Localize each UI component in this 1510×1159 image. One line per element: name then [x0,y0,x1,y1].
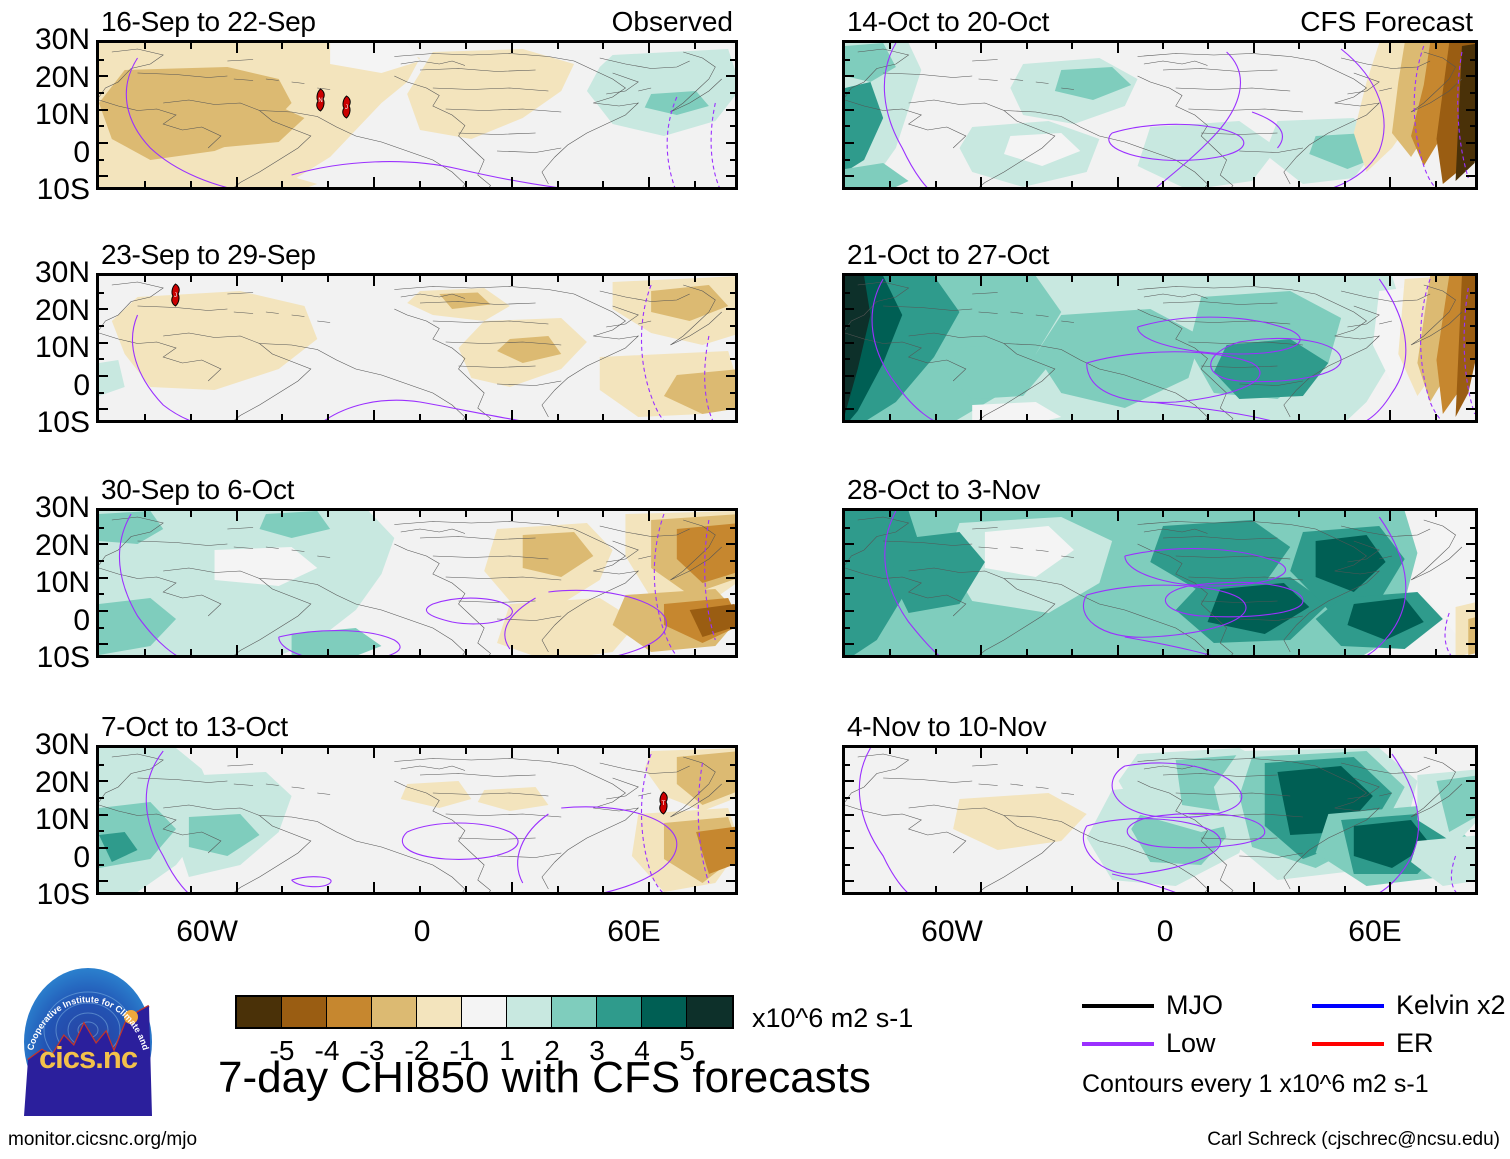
x-tick [1071,511,1073,517]
y-tick [845,627,850,629]
y-tick [845,308,854,310]
column-header-1: Observed [612,8,733,36]
y-tick [845,560,850,562]
x-tick [648,882,650,892]
x-tick [327,276,329,282]
x-tick [1207,181,1209,187]
y-tick [99,342,108,344]
x-tick [190,748,192,754]
y-tick [1470,159,1475,161]
y-tick [99,577,108,579]
x-tick [511,748,513,758]
x-tick [144,886,146,892]
x-tick [190,43,192,49]
y-tick [1470,864,1475,866]
x-tick [1026,414,1028,420]
y-tick [1470,59,1475,61]
y-tick-label: 10N [35,568,90,598]
y-tick [99,175,108,177]
x-tick-label: 60E [1348,917,1401,947]
y-tick [845,142,854,144]
y-tick [845,125,850,127]
colorbar-swatch [282,997,327,1027]
map-panel: J [96,273,738,423]
x-tick [694,511,696,517]
y-tick [845,92,850,94]
y-tick [845,109,854,111]
x-tick [1389,511,1391,521]
x-tick [419,414,421,420]
x-tick [1117,645,1119,655]
y-tick [99,780,108,782]
x-tick [980,882,982,892]
x-tick [1253,276,1255,286]
x-tick [1344,886,1346,892]
y-tick [1466,780,1475,782]
x-tick [1389,177,1391,187]
map-panel [842,508,1478,658]
x-tick [236,511,238,521]
x-tick [1071,748,1073,754]
x-tick [1117,748,1119,758]
y-tick [1466,577,1475,579]
x-tick [1389,276,1391,286]
legend-label: Low [1166,1030,1216,1057]
x-tick [694,649,696,655]
x-tick [1344,181,1346,187]
y-tick [1470,358,1475,360]
x-tick [889,748,891,754]
x-tick [1071,276,1073,282]
x-tick [1117,882,1119,892]
x-tick [465,181,467,187]
y-tick [726,308,735,310]
y-tick [1470,125,1475,127]
x-tick [511,511,513,521]
x-tick [1344,649,1346,655]
x-tick [1253,511,1255,521]
legend-label: ER [1396,1030,1434,1057]
colorbar-swatch [642,997,687,1027]
x-tick [648,645,650,655]
y-tick-label: 0 [73,606,90,636]
y-tick [99,392,104,394]
y-tick [845,643,854,645]
x-tick [648,410,650,420]
x-tick [327,414,329,420]
y-axis-labels: 30N20N10N010S [4,508,90,658]
legend-line-swatch [1312,1042,1384,1046]
x-tick [1162,414,1164,420]
x-tick [465,886,467,892]
x-tick [1117,177,1119,187]
y-tick-label: 10S [37,880,90,910]
y-tick [1466,643,1475,645]
y-tick [845,159,850,161]
y-tick [845,342,854,344]
logo-wordmark: cics.nc [18,1040,158,1076]
x-tick [889,649,891,655]
y-tick [1466,543,1475,545]
x-tick [373,276,375,286]
y-tick [730,92,735,94]
y-tick [726,142,735,144]
x-tick [465,43,467,49]
y-tick [1470,527,1475,529]
x-tick [557,649,559,655]
x-tick [1026,181,1028,187]
x-tick [648,276,650,286]
y-tick [99,543,108,545]
x-tick [1026,43,1028,49]
y-tick [845,75,854,77]
x-tick [1344,748,1346,754]
x-tick [935,886,937,892]
x-tick [889,181,891,187]
x-tick [602,511,604,517]
x-tick [935,276,937,282]
y-tick [730,358,735,360]
x-tick [648,511,650,521]
x-tick [980,410,982,420]
x-tick [511,882,513,892]
x-tick [419,649,421,655]
x-tick [980,43,982,53]
map-panel [842,745,1478,895]
colorbar-swatch [327,997,372,1027]
x-tick [1298,748,1300,754]
y-tick [99,325,104,327]
y-tick [99,292,104,294]
x-tick [373,410,375,420]
x-tick [327,43,329,49]
colorbar-swatch [372,997,417,1027]
y-tick [730,325,735,327]
y-tick [99,308,108,310]
x-tick [1162,181,1164,187]
x-tick [190,511,192,517]
legend-label: MJO [1166,992,1223,1019]
svg-text:T: T [661,801,665,807]
y-tick [730,593,735,595]
y-tick [845,610,854,612]
y-tick [1466,142,1475,144]
y-tick-label: 10S [37,643,90,673]
y-tick [99,109,108,111]
x-tick [1389,748,1391,758]
y-tick-label: 20N [35,531,90,561]
x-tick [1162,649,1164,655]
y-tick [726,643,735,645]
x-tick [1298,414,1300,420]
x-tick [281,511,283,517]
x-tick [1253,177,1255,187]
map-panel: NJ [96,40,738,190]
x-tick [236,276,238,286]
y-tick [1466,814,1475,816]
legend-note: Contours every 1 x10^6 m2 s-1 [1082,1072,1429,1097]
y-tick [730,292,735,294]
legend-label: Kelvin x2 [1396,992,1506,1019]
x-tick [557,414,559,420]
y-tick [845,593,850,595]
y-tick [99,527,104,529]
x-tick-label: 60W [176,917,238,947]
legend-entry-kelvin-x2: Kelvin x2 [1312,992,1506,1019]
y-tick [845,577,854,579]
x-tick [419,276,421,282]
column-header-2: CFS Forecast [1300,8,1473,36]
x-tick [602,748,604,754]
y-tick [730,864,735,866]
x-tick [1435,181,1437,187]
x-tick [889,276,891,282]
y-tick [99,142,108,144]
y-tick [99,59,104,61]
x-tick [1253,645,1255,655]
x-tick [1435,748,1437,754]
y-tick [845,59,850,61]
x-tick [1071,886,1073,892]
x-tick [889,511,891,517]
x-tick [327,511,329,517]
x-tick [1389,43,1391,53]
y-tick [845,392,850,394]
y-tick [99,830,104,832]
x-tick [648,177,650,187]
y-tick [845,175,854,177]
y-tick [730,830,735,832]
x-tick [511,43,513,53]
y-tick [99,159,104,161]
x-tick [327,181,329,187]
x-tick [1026,886,1028,892]
x-tick [602,276,604,282]
x-tick [1253,748,1255,758]
x-tick [190,414,192,420]
x-tick [281,276,283,282]
x-tick [557,43,559,49]
x-tick [980,276,982,286]
y-tick-label: 30N [35,258,90,288]
y-tick [99,764,104,766]
x-tick [144,181,146,187]
x-tick [602,414,604,420]
x-tick [557,748,559,754]
y-tick [845,358,850,360]
svg-text:J: J [345,105,348,111]
y-tick [99,627,104,629]
x-tick [281,414,283,420]
x-tick [373,645,375,655]
y-tick [845,527,850,529]
y-tick [730,59,735,61]
x-tick [465,511,467,517]
y-tick [726,780,735,782]
legend-line-swatch [1312,1004,1384,1008]
colorbar-swatch [552,997,597,1027]
x-tick [1435,276,1437,282]
y-tick-label: 30N [35,25,90,55]
x-tick [465,276,467,282]
x-tick [1389,882,1391,892]
colorbar-swatch [507,997,552,1027]
y-tick [845,864,850,866]
x-tick [1026,511,1028,517]
x-tick [889,43,891,49]
x-tick [935,181,937,187]
y-tick [1466,308,1475,310]
x-tick [1435,649,1437,655]
x-tick [557,276,559,282]
y-tick [845,830,850,832]
x-tick [1207,886,1209,892]
y-tick [845,408,854,410]
y-tick-label: 0 [73,843,90,873]
x-tick [694,181,696,187]
x-tick [889,886,891,892]
footer-author: Carl Schreck (cjschrec@ncsu.edu) [1207,1130,1500,1149]
x-tick [327,886,329,892]
y-tick [99,125,104,127]
x-tick [1435,43,1437,49]
x-tick [1298,43,1300,49]
panel-title: 16-Sep to 22-Sep [101,8,316,36]
y-axis-labels: 30N20N10N010S [4,40,90,190]
x-tick [1207,276,1209,282]
y-tick [99,408,108,410]
x-tick [511,177,513,187]
x-tick [557,511,559,517]
y-tick [99,643,108,645]
y-tick [726,543,735,545]
x-tick [373,43,375,53]
y-tick [726,408,735,410]
y-tick [1470,797,1475,799]
y-tick [1470,764,1475,766]
panel-title: 4-Nov to 10-Nov [847,713,1046,741]
x-tick [373,882,375,892]
panel-title: 30-Sep to 6-Oct [101,476,294,504]
colorbar-swatch [597,997,642,1027]
x-tick [373,748,375,758]
y-tick-label: 20N [35,768,90,798]
colorbar-swatch [462,997,507,1027]
y-tick [726,375,735,377]
y-tick [845,780,854,782]
x-tick [236,882,238,892]
x-tick [694,748,696,754]
y-tick [1466,109,1475,111]
colorbar-swatch [417,997,462,1027]
y-tick-label: 20N [35,63,90,93]
y-tick [99,847,108,849]
x-tick [1071,414,1073,420]
y-tick [730,159,735,161]
x-tick [694,43,696,49]
x-tick-label: 60E [607,917,660,947]
x-tick [236,645,238,655]
y-tick-label: 10S [37,408,90,438]
y-tick [99,880,108,882]
y-axis-labels: 30N20N10N010S [4,745,90,895]
x-tick [281,748,283,754]
x-tick [144,43,146,49]
y-tick [845,375,854,377]
x-tick [1253,882,1255,892]
y-tick [730,392,735,394]
y-tick [845,847,854,849]
y-tick [726,847,735,849]
y-tick [99,92,104,94]
y-tick [726,342,735,344]
x-tick [1117,410,1119,420]
x-tick [190,181,192,187]
x-tick [557,181,559,187]
y-axis-labels: 30N20N10N010S [4,273,90,423]
x-tick [144,414,146,420]
x-tick [1207,414,1209,420]
y-tick [99,610,108,612]
colorbar-swatch [237,997,282,1027]
y-tick [726,109,735,111]
x-tick [1071,43,1073,49]
y-tick [1470,627,1475,629]
x-tick [236,43,238,53]
x-tick [935,414,937,420]
footer-url: monitor.cicsnc.org/mjo [8,1130,197,1149]
x-tick [236,748,238,758]
y-tick [730,527,735,529]
y-tick [99,375,108,377]
x-tick [465,414,467,420]
x-tick [1435,414,1437,420]
y-tick [1466,342,1475,344]
legend-entry-low: Low [1082,1030,1216,1057]
x-tick [1162,276,1164,282]
x-tick [1253,410,1255,420]
x-tick [1298,276,1300,282]
x-tick [190,886,192,892]
x-tick [1344,43,1346,49]
x-tick [602,43,604,49]
y-tick [1470,830,1475,832]
x-tick [1298,886,1300,892]
main-title: 7-day CHI850 with CFS forecasts [218,1056,871,1100]
y-tick-label: 30N [35,493,90,523]
x-tick [1117,276,1119,286]
x-tick [1344,414,1346,420]
y-tick [726,175,735,177]
y-tick [99,814,108,816]
x-tick [144,511,146,517]
y-tick [726,577,735,579]
panel-title: 14-Oct to 20-Oct [847,8,1049,36]
y-tick [1470,560,1475,562]
x-tick [281,649,283,655]
x-tick [980,645,982,655]
y-tick [1470,325,1475,327]
y-tick [845,292,850,294]
x-tick [694,886,696,892]
x-tick [935,43,937,49]
x-tick [1298,511,1300,517]
x-tick [511,276,513,286]
x-tick [1298,649,1300,655]
x-tick [694,276,696,282]
x-tick [980,748,982,758]
y-tick [845,814,854,816]
